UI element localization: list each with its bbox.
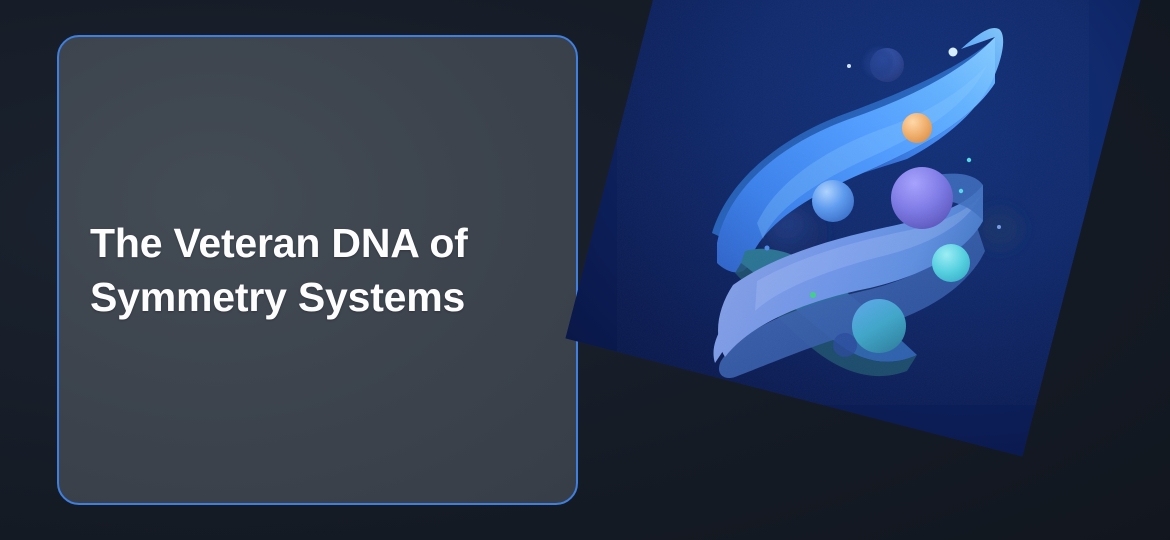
page-title: The Veteran DNA of Symmetry Systems <box>90 216 542 324</box>
grain-overlay <box>617 0 1089 405</box>
title-card-body: The Veteran DNA of Symmetry Systems <box>59 216 576 324</box>
artwork-content <box>617 0 1089 405</box>
artwork-panel <box>565 0 1140 457</box>
dna-helix-icon <box>617 0 1089 405</box>
page-title-line-2: Symmetry Systems <box>90 274 465 320</box>
page-title-line-1: The Veteran DNA of <box>90 220 468 266</box>
title-card: The Veteran DNA of Symmetry Systems <box>57 35 578 505</box>
screenshot-root: The Veteran DNA of Symmetry Systems <box>0 0 1170 540</box>
